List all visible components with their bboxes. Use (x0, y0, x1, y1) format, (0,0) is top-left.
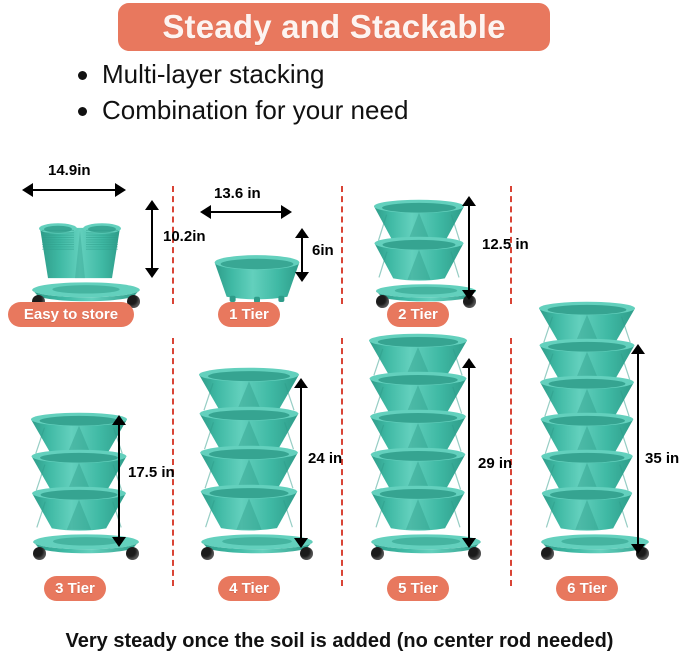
height-dimension-label-tier-2: 12.5 in (482, 236, 529, 253)
width-dimension-label-tier-1: 13.6 in (214, 185, 261, 202)
height-dimension-arrow-tier-1 (295, 228, 309, 282)
page-title: Steady and Stackable (162, 8, 505, 46)
height-dimension-label-tier-1: 6in (312, 242, 334, 259)
caster-wheel-icon (201, 547, 214, 560)
caster-wheel-icon (300, 547, 313, 560)
caster-wheel-icon (126, 547, 139, 560)
height-dimension-label-tier-5: 29 in (478, 455, 512, 472)
status-badge-tier-1: 1 Tier (218, 302, 280, 327)
feature-bullet-list: Multi-layer stacking Combination for you… (78, 58, 578, 130)
height-dimension-arrow-tier-5 (462, 358, 476, 548)
height-dimension-arrow-easy-to-store (145, 200, 159, 278)
product-infographic: Steady and Stackable Multi-layer stackin… (0, 0, 679, 665)
height-dimension-arrow-tier-4 (294, 378, 308, 548)
bullet-text: Multi-layer stacking (102, 58, 325, 91)
height-dimension-label-tier-4: 24 in (308, 450, 342, 467)
width-dimension-arrow-tier-1 (200, 205, 292, 219)
status-badge-tier-4: 4 Tier (218, 576, 280, 601)
planter-illustration-easy-to-store (30, 218, 142, 308)
height-dimension-label-tier-3: 17.5 in (128, 464, 175, 481)
bullet-dot-icon (78, 107, 87, 116)
list-item: Combination for your need (78, 94, 578, 127)
caster-wheel-icon (371, 547, 384, 560)
status-badge-tier-5: 5 Tier (387, 576, 449, 601)
caster-wheel-icon (541, 547, 554, 560)
height-dimension-arrow-tier-3 (112, 415, 126, 547)
list-item: Multi-layer stacking (78, 58, 578, 91)
status-badge-tier-3: 3 Tier (44, 576, 106, 601)
height-dimension-arrow-tier-2 (462, 196, 476, 300)
product-cell-tier-5 (341, 340, 510, 560)
planter-illustration-tier-1 (211, 251, 303, 308)
page-title-badge: Steady and Stackable (118, 3, 550, 51)
width-dimension-label-easy-to-store: 14.9in (48, 162, 91, 179)
status-badge-tier-6: 6 Tier (556, 576, 618, 601)
width-dimension-arrow-easy-to-store (22, 183, 126, 197)
caster-wheel-icon (376, 295, 389, 308)
footer-caption: Very steady once the soil is added (no c… (0, 630, 679, 653)
status-badge-easy-to-store: Easy to store (8, 302, 134, 327)
caster-wheel-icon (33, 547, 46, 560)
bullet-dot-icon (78, 71, 87, 80)
bullet-text: Combination for your need (102, 94, 408, 127)
height-dimension-label-tier-6: 35 in (645, 450, 679, 467)
product-cell-tier-6 (510, 330, 679, 560)
height-dimension-arrow-tier-6 (631, 344, 645, 554)
status-badge-tier-2: 2 Tier (387, 302, 449, 327)
caster-wheel-icon (468, 547, 481, 560)
